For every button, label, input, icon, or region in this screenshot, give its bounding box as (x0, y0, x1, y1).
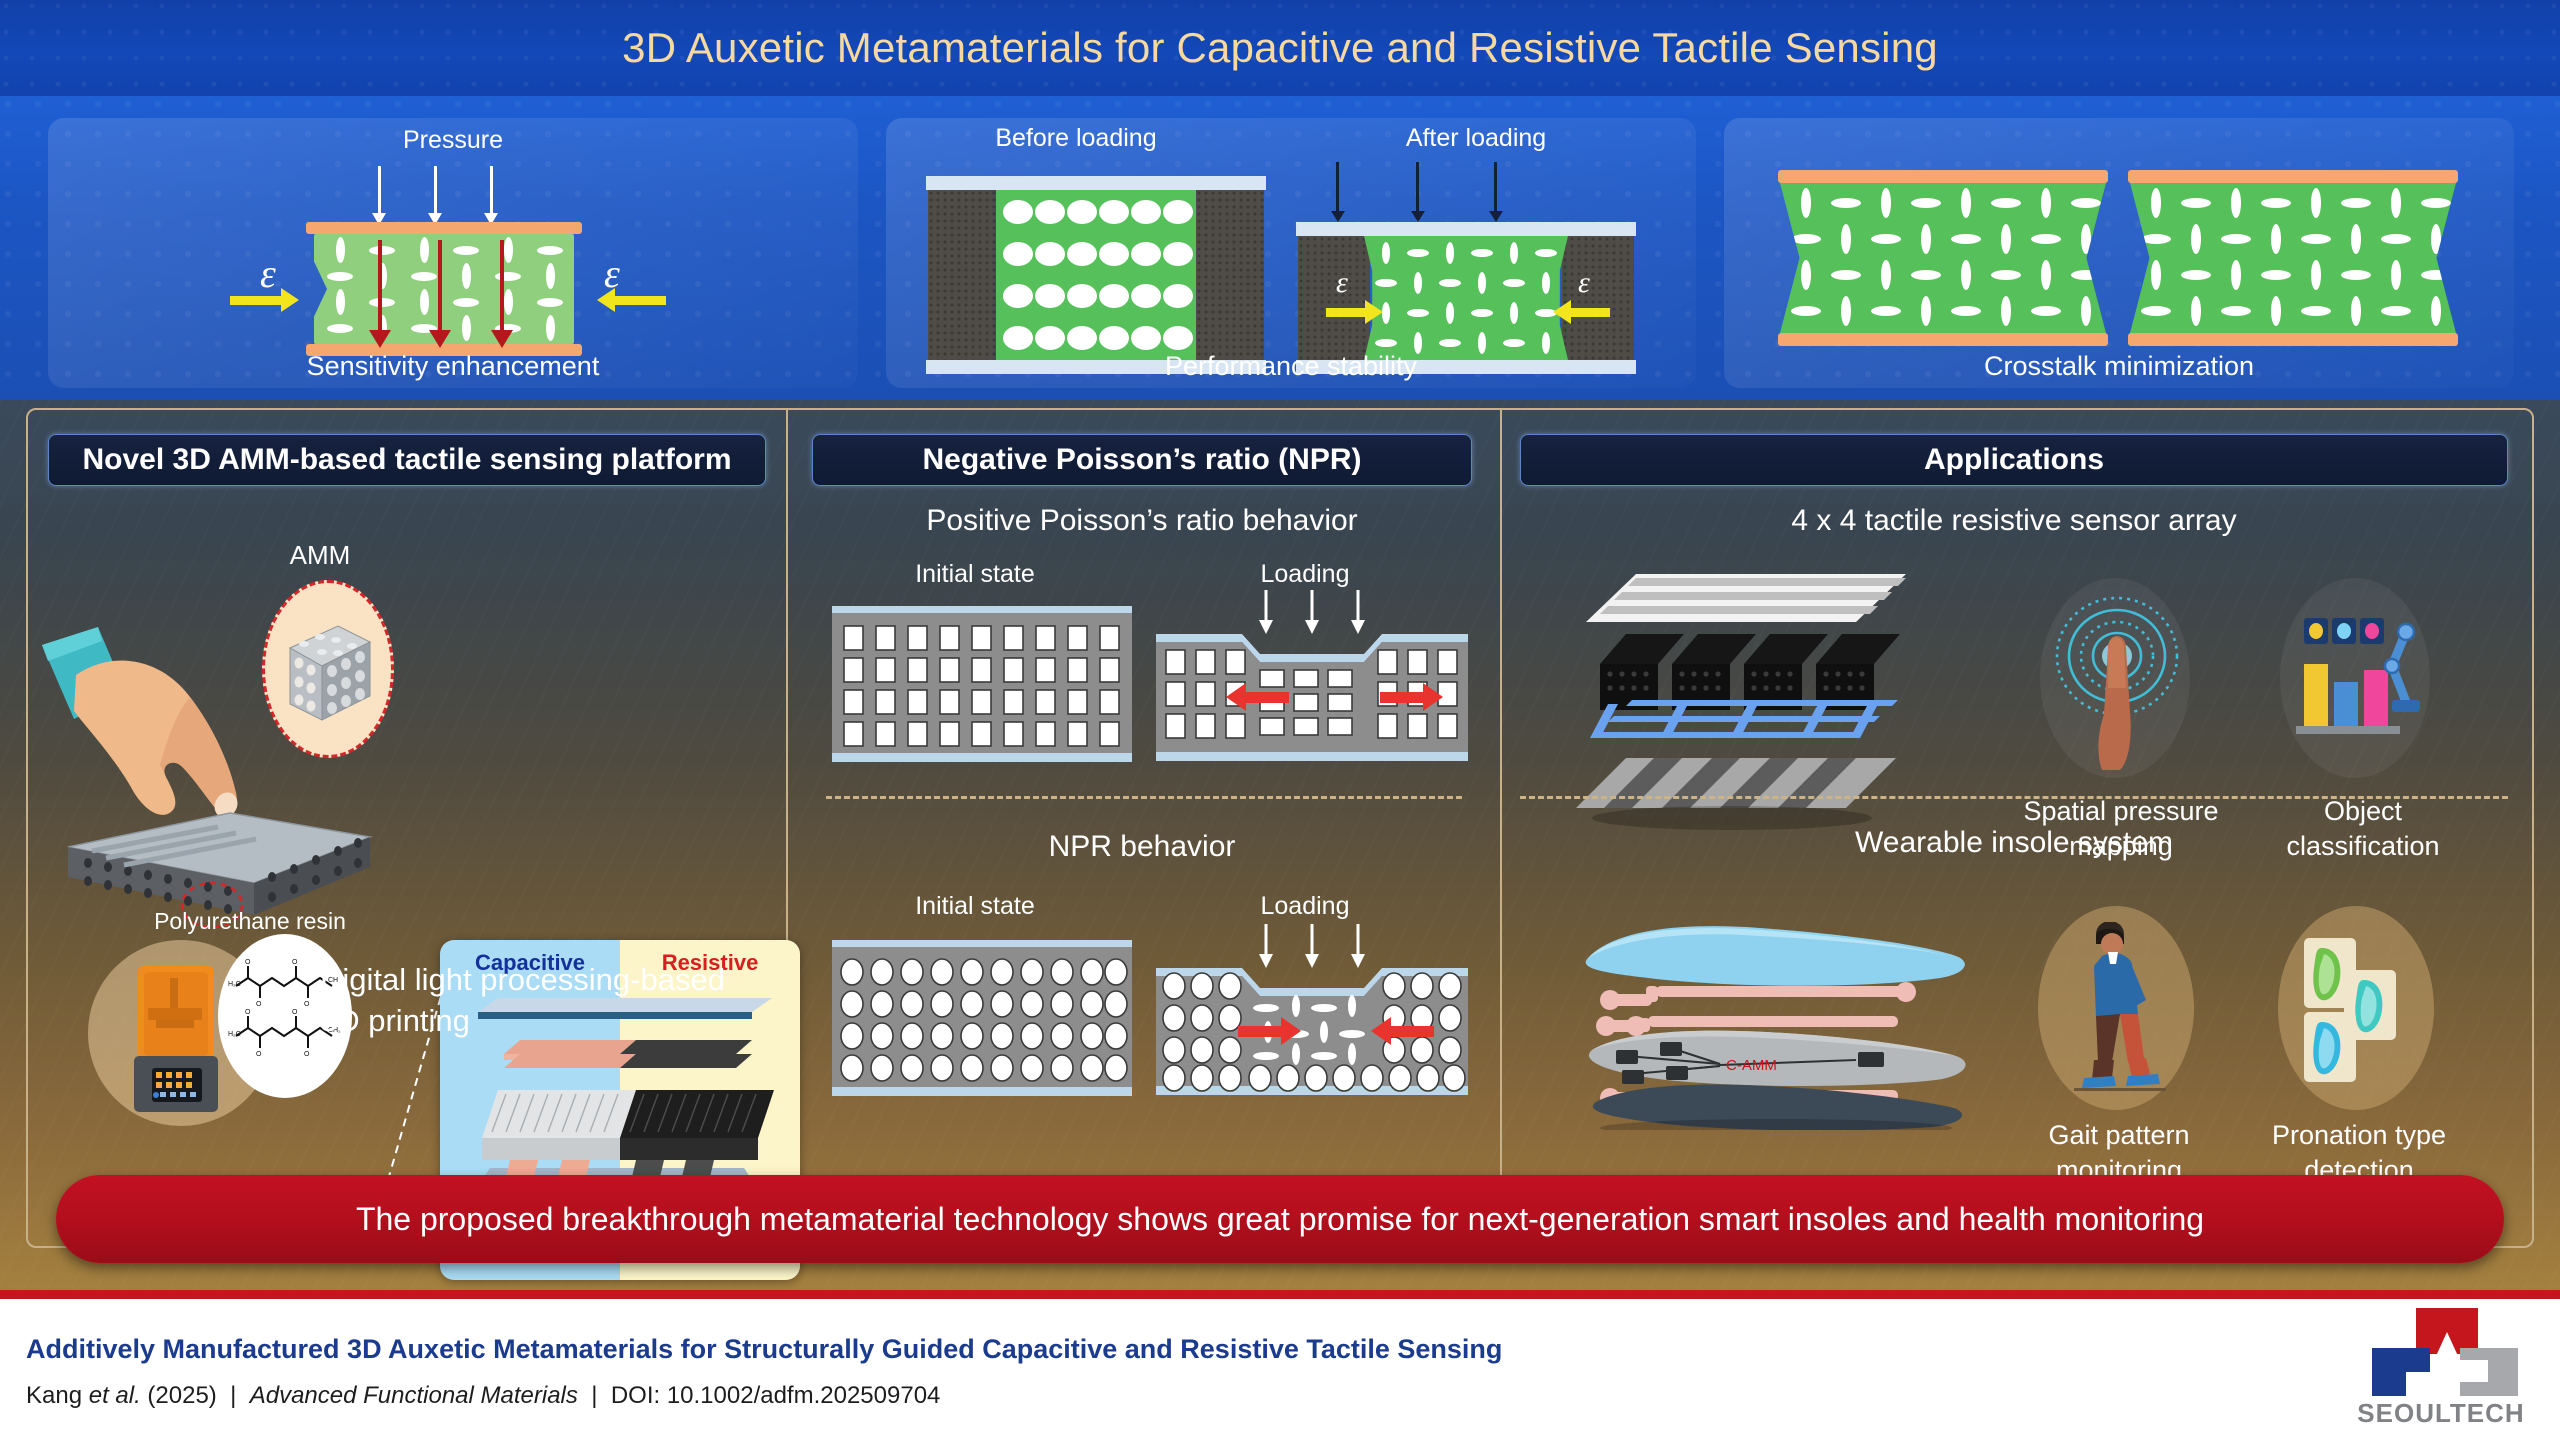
panel-header-npr-label: Negative Poisson’s ratio (NPR) (923, 443, 1362, 477)
auxetic-pore (336, 289, 345, 315)
auxetic-pore (1951, 306, 1981, 316)
auxetic-pore (1003, 284, 1033, 308)
strain-arrow-left (230, 296, 282, 305)
auxetic-pore (1871, 306, 1901, 316)
auxetic-pore (2071, 198, 2101, 208)
after-strain-right: ε (1578, 266, 1590, 300)
auxetic-pore (1439, 279, 1461, 287)
strain-arrow-right (614, 296, 666, 305)
auxetic-pore (2151, 260, 2161, 290)
auxetic-pore (2181, 270, 2211, 280)
auxetic-pore (2271, 224, 2281, 254)
auxetic-pore (462, 263, 471, 289)
dlp-printer-icon (120, 956, 232, 1116)
svg-text:O: O (304, 1001, 310, 1008)
svg-text:O: O (245, 959, 251, 966)
auxetic-pore (2341, 198, 2371, 208)
deformation-arrow-3 (500, 240, 504, 332)
auxetic-pore (504, 289, 513, 315)
auxetic-pore (1131, 200, 1161, 224)
auxetic-pore (2351, 224, 2361, 254)
auxetic-pore (2261, 270, 2291, 280)
auxetic-pore (1951, 234, 1981, 244)
ppr-expansion-arrow-left (1245, 692, 1289, 703)
auxetic-pore (1035, 284, 1065, 308)
auxetic-pore (1414, 272, 1422, 294)
ppr-initial-state-label: Initial state (830, 560, 1120, 589)
auxetic-pore (2391, 260, 2401, 290)
auxetic-pore (504, 237, 513, 263)
auxetic-pore (411, 272, 437, 281)
auxetic-pore (453, 246, 479, 255)
auxetic-pore (1163, 284, 1193, 308)
citation-year: (2025) (141, 1382, 217, 1409)
auxetic-pore (1067, 242, 1097, 266)
auxetic-pore (2151, 188, 2161, 218)
ppr-initial-lattice (832, 606, 1132, 766)
auxetic-pore (1542, 272, 1550, 294)
npr-contraction-arrow-right (1390, 1026, 1434, 1037)
main-content-area: Novel 3D AMM-based tactile sensing platf… (0, 400, 2560, 1290)
dlp-printing-line2: 3D printing (320, 1003, 470, 1038)
svg-text:O: O (256, 1051, 262, 1058)
auxetic-pore (453, 298, 479, 307)
logo-notch-gray (2460, 1360, 2488, 1382)
auxetic-pore (1991, 270, 2021, 280)
auxetic-pore (420, 289, 429, 315)
auxetic-pore (327, 272, 353, 281)
auxetic-pore (2141, 234, 2171, 244)
citation-journal: Advanced Functional Materials (250, 1382, 578, 1409)
after-auxetic-block (1364, 236, 1568, 360)
spatial-pressure-mapping-icon (2046, 582, 2188, 778)
auxetic-pore (1407, 249, 1429, 257)
auxetic-pore (1471, 309, 1493, 317)
paper-title: Additively Manufactured 3D Auxetic Metam… (26, 1334, 1502, 1365)
svg-text:O: O (256, 1001, 262, 1008)
auxetic-pore (1131, 242, 1161, 266)
pressure-arrow-1 (378, 166, 381, 214)
auxetic-pore (537, 246, 563, 255)
top-feature-strip: Pressure ε ε Sensitivity enhancement Bef… (0, 96, 2560, 400)
auxetic-pore (1099, 326, 1129, 350)
npr-initial-state-label: Initial state (830, 892, 1120, 921)
auxetic-pore (1871, 234, 1901, 244)
pressure-label: Pressure (48, 126, 858, 155)
auxetic-pore (1961, 188, 1971, 218)
pressure-arrow-2 (434, 166, 437, 214)
before-right-support (1196, 190, 1264, 360)
panel-header-platform-label: Novel 3D AMM-based tactile sensing platf… (82, 443, 731, 477)
ppr-loading-label: Loading (1160, 560, 1450, 589)
auxetic-pore (1881, 188, 1891, 218)
auxetic-pore (2081, 296, 2091, 326)
auxetic-pore (2431, 296, 2441, 326)
auxetic-pore (546, 263, 555, 289)
auxetic-pore (1375, 339, 1397, 347)
footer: Additively Manufactured 3D Auxetic Metam… (0, 1290, 2560, 1440)
npr-contraction-arrow-left (1238, 1026, 1282, 1037)
after-strain-arrow-left (1326, 308, 1366, 317)
auxetic-pore (1035, 326, 1065, 350)
auxetic-pore (1163, 326, 1193, 350)
object-label-line1: Object (2324, 796, 2402, 826)
auxetic-pore (1099, 242, 1129, 266)
crosstalk-left-block (1780, 183, 2106, 333)
auxetic-pore (2141, 306, 2171, 316)
after-left-support (1298, 236, 1370, 360)
top-electrode-plate (306, 222, 582, 234)
panel-header-applications-label: Applications (1924, 443, 2104, 477)
after-load-arrow-3 (1494, 162, 1497, 212)
auxetic-pore (1099, 284, 1129, 308)
svg-text:O: O (304, 1051, 310, 1058)
auxetic-pore (2231, 260, 2241, 290)
auxetic-pore (2421, 198, 2451, 208)
auxetic-pore (1841, 296, 1851, 326)
auxetic-pore (1035, 200, 1065, 224)
auxetic-pore (1911, 270, 1941, 280)
title-bar: 3D Auxetic Metamaterials for Capacitive … (0, 0, 2560, 96)
auxetic-pore (1035, 242, 1065, 266)
auxetic-pore (1382, 302, 1390, 324)
camm-inline-label: C-AMM (1726, 1057, 1777, 1074)
auxetic-pore (1003, 326, 1033, 350)
wearable-insole-diagram: C-AMM (1570, 900, 1990, 1130)
feature-panel-stability: Before loading After loading ε ε Perform… (886, 118, 1696, 388)
before-auxetic-block (996, 190, 1196, 360)
auxetic-pore (1791, 234, 1821, 244)
auxetic-pore (495, 272, 521, 281)
spatial-label-line1: Spatial pressure (2023, 796, 2218, 826)
deformation-arrow-1 (378, 240, 382, 332)
auxetic-pore (1478, 272, 1486, 294)
auxetic-pore (2421, 270, 2451, 280)
hand-pressing-sensor-illustration (40, 615, 460, 945)
crosstalk-left-bottom-plate (1778, 333, 2108, 346)
after-right-support (1562, 236, 1634, 360)
auxetic-pore (2431, 224, 2441, 254)
auxetic-pore (2031, 234, 2061, 244)
panel-caption-crosstalk: Crosstalk minimization (1724, 351, 2514, 382)
auxetic-pore (546, 315, 555, 341)
after-strain-arrow-right (1570, 308, 1610, 317)
citation-sep-1: | (230, 1382, 236, 1409)
pressure-arrow-3 (490, 166, 493, 214)
logo-notch-blue (2406, 1372, 2430, 1396)
panel-header-platform: Novel 3D AMM-based tactile sensing platf… (48, 434, 766, 486)
auxetic-pore (2301, 306, 2331, 316)
auxetic-pore (462, 315, 471, 341)
auxetic-pore (2081, 224, 2091, 254)
auxetic-pore (1911, 198, 1941, 208)
footer-red-rule (0, 1290, 2560, 1299)
auxetic-pore (1510, 242, 1518, 264)
polyurethane-resin-label: Polyurethane resin (110, 908, 390, 935)
auxetic-pore (2231, 188, 2241, 218)
auxetic-pore (1841, 224, 1851, 254)
auxetic-pore (1407, 309, 1429, 317)
auxetic-pore (2271, 296, 2281, 326)
auxetic-pore (2261, 198, 2291, 208)
crosstalk-right-bottom-plate (2128, 333, 2458, 346)
citation-authors: Kang (26, 1382, 89, 1409)
auxetic-pore (1510, 302, 1518, 324)
auxetic-pore (1446, 302, 1454, 324)
auxetic-pore (2221, 234, 2251, 244)
insole-title: Wearable insole system (1520, 826, 2508, 860)
panel-caption-stability: Performance stability (886, 351, 1696, 382)
panel-header-npr: Negative Poisson’s ratio (NPR) (812, 434, 1472, 486)
after-load-arrow-1 (1336, 162, 1339, 212)
auxetic-pore (1003, 242, 1033, 266)
sensor-array-title: 4 x 4 tactile resistive sensor array (1520, 504, 2508, 538)
auxetic-pore (2001, 224, 2011, 254)
seoultech-logo: SEOULTECH (2356, 1304, 2526, 1426)
auxetic-pore (1831, 198, 1861, 208)
crosstalk-left-top-plate (1778, 170, 2108, 183)
gait-pattern-monitoring-icon (2062, 922, 2174, 1098)
before-left-support (928, 190, 996, 360)
applications-section-divider (1520, 796, 2508, 799)
ppr-expansion-arrow-right (1380, 692, 1424, 703)
auxetic-pore (2311, 260, 2321, 290)
auxetic-pore (1099, 200, 1129, 224)
dlp-printing-caption: Digital light processing-based 3D printi… (320, 960, 790, 1042)
ppr-title: Positive Poisson’s ratio behavior (812, 504, 1472, 538)
auxetic-pore (2221, 306, 2251, 316)
auxetic-pore (1131, 326, 1161, 350)
feature-panel-crosstalk: Crosstalk minimization (1724, 118, 2514, 388)
auxetic-pore (1067, 284, 1097, 308)
auxetic-pore (1921, 296, 1931, 326)
auxetic-pore (1003, 200, 1033, 224)
auxetic-pore (2351, 296, 2361, 326)
crosstalk-right-block (2130, 183, 2456, 333)
after-strain-left: ε (1336, 266, 1348, 300)
auxetic-pore (1881, 260, 1891, 290)
before-top-plate (926, 176, 1266, 190)
svg-text:O: O (292, 959, 298, 966)
auxetic-pore (420, 237, 429, 263)
logo-text: SEOULTECH (2356, 1398, 2526, 1429)
panel-divider-right (1500, 410, 1502, 1238)
auxetic-pore (2381, 234, 2411, 244)
panel-header-applications: Applications (1520, 434, 2508, 486)
auxetic-pore (369, 246, 395, 255)
auxetic-pore (1921, 224, 1931, 254)
auxetic-pore (1446, 242, 1454, 264)
auxetic-pore (2041, 260, 2051, 290)
npr-loading-lattice (1156, 920, 1468, 1100)
auxetic-pore (1067, 200, 1097, 224)
auxetic-pore (1801, 260, 1811, 290)
citation-doi: DOI: 10.1002/adfm.202509704 (611, 1382, 941, 1409)
auxetic-pore (2191, 224, 2201, 254)
before-loading-label: Before loading (906, 124, 1246, 153)
citation-etal: et al. (89, 1382, 141, 1409)
auxetic-pore (1439, 339, 1461, 347)
auxetic-pore (1991, 198, 2021, 208)
auxetic-block (314, 234, 574, 344)
auxetic-pore (369, 298, 395, 307)
auxetic-pore (1163, 242, 1193, 266)
svg-text:H₂C: H₂C (228, 981, 241, 988)
dlp-printing-line1: Digital light processing-based (320, 962, 725, 997)
page-title: 3D Auxetic Metamaterials for Capacitive … (0, 0, 2560, 96)
auxetic-pore (2181, 198, 2211, 208)
auxetic-pore (1801, 188, 1811, 218)
auxetic-pore (1067, 326, 1097, 350)
ppr-loading-lattice (1156, 586, 1468, 766)
auxetic-pore (1791, 306, 1821, 316)
citation-line: Kang et al. (2025) | Advanced Functional… (26, 1382, 940, 1410)
svg-text:O: O (245, 1009, 251, 1016)
panel-caption-sensitivity: Sensitivity enhancement (48, 351, 858, 382)
auxetic-pore (1382, 242, 1390, 264)
auxetic-pore (336, 237, 345, 263)
auxetic-pore (2031, 306, 2061, 316)
auxetic-pore (1163, 200, 1193, 224)
npr-initial-lattice (832, 940, 1132, 1100)
auxetic-pore (2301, 234, 2331, 244)
auxetic-pore (2381, 306, 2411, 316)
key-message-banner: The proposed breakthrough metamaterial t… (56, 1175, 2504, 1263)
npr-title: NPR behavior (812, 830, 1472, 864)
auxetic-pore (1471, 249, 1493, 257)
feature-panel-sensitivity: Pressure ε ε Sensitivity enhancement (48, 118, 858, 388)
auxetic-pore (2311, 188, 2321, 218)
auxetic-pore (1131, 284, 1161, 308)
auxetic-pore (2341, 270, 2371, 280)
citation-sep-2: | (591, 1382, 597, 1409)
after-loading-label: After loading (1306, 124, 1646, 153)
npr-section-divider (826, 796, 1462, 799)
crosstalk-right-top-plate (2128, 170, 2458, 183)
object-classification-icon (2288, 590, 2424, 770)
key-message-text: The proposed breakthrough metamaterial t… (356, 1201, 2204, 1238)
pronation-type-detection-icon (2298, 928, 2422, 1096)
tactile-sensor-array-diagram (1556, 556, 1936, 836)
auxetic-pore (537, 298, 563, 307)
auxetic-pore (2071, 270, 2101, 280)
pronation-label-line1: Pronation type (2272, 1120, 2446, 1150)
auxetic-pore (1961, 260, 1971, 290)
npr-loading-label: Loading (1160, 892, 1450, 921)
deformation-arrow-2 (438, 240, 442, 332)
after-top-plate (1296, 222, 1636, 236)
auxetic-pore (2041, 188, 2051, 218)
gait-label-line1: Gait pattern (2048, 1120, 2189, 1150)
after-load-arrow-2 (1416, 162, 1419, 212)
auxetic-pore (2001, 296, 2011, 326)
auxetic-pore (327, 324, 353, 333)
auxetic-pore (1535, 249, 1557, 257)
auxetic-pore (1831, 270, 1861, 280)
auxetic-pore (2391, 188, 2401, 218)
svg-text:H₂C: H₂C (228, 1031, 241, 1038)
auxetic-pore (1503, 339, 1525, 347)
amm-label: AMM (250, 540, 390, 571)
auxetic-pore (2191, 296, 2201, 326)
strain-symbol-left: ε (260, 250, 276, 297)
auxetic-pore (1503, 279, 1525, 287)
auxetic-pore (1375, 279, 1397, 287)
svg-text:O: O (292, 1009, 298, 1016)
